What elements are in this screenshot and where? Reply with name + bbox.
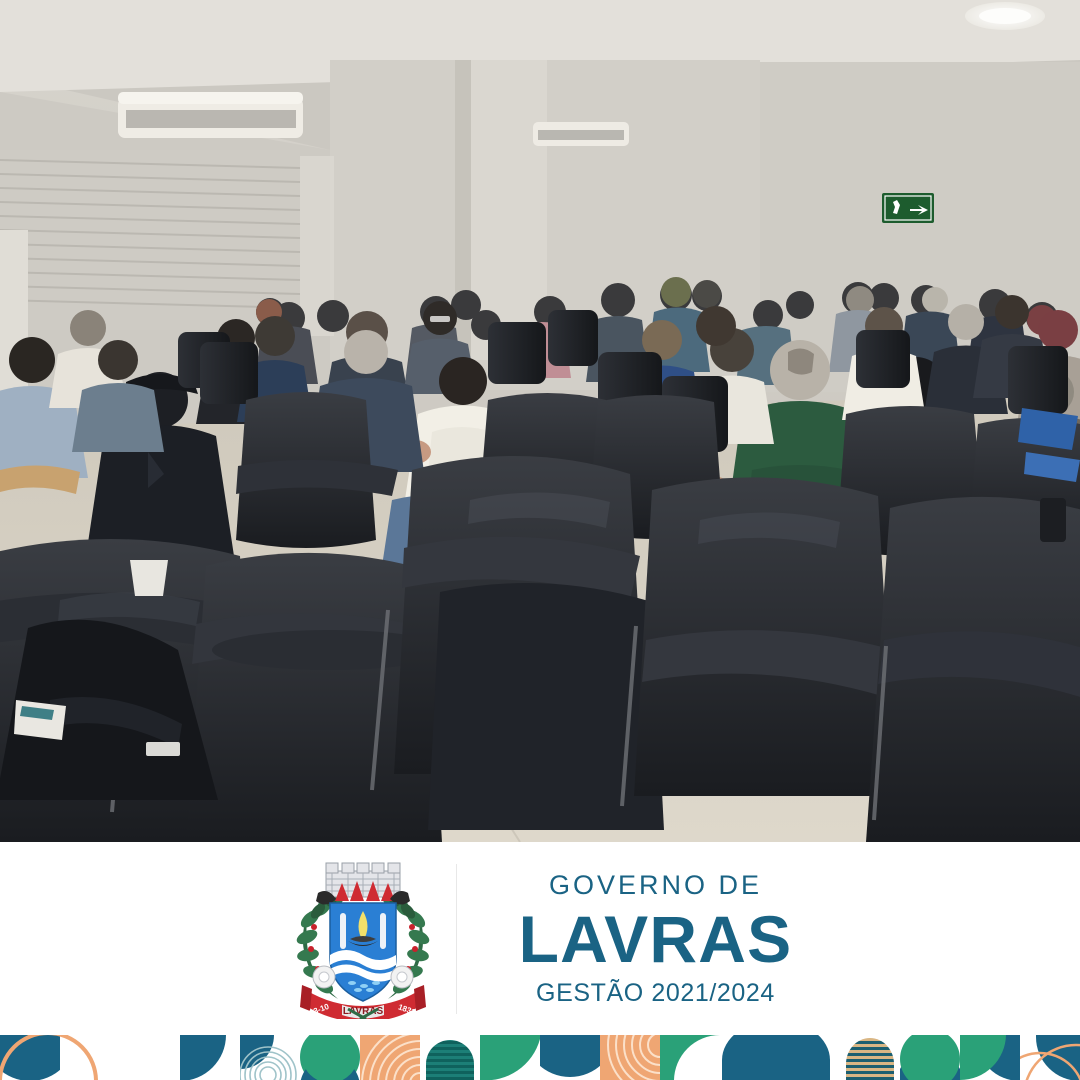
governo-label: GOVERNO DE (549, 872, 762, 899)
lavras-coat-of-arms-icon: LAVRAS 13-10 1831 (288, 859, 438, 1019)
brand-divider (456, 864, 457, 1014)
brand-band: LAVRAS 13-10 1831 GOVERNO DE LAVRAS GEST… (0, 842, 1080, 1035)
air-conditioner-left (118, 92, 303, 138)
lavras-wordmark: LAVRAS (519, 906, 793, 972)
social-post-card: LAVRAS 13-10 1831 GOVERNO DE LAVRAS GEST… (0, 0, 1080, 1080)
decorative-pattern-strip (0, 1035, 1080, 1080)
exit-sign (882, 193, 934, 223)
air-conditioner-right (533, 122, 629, 146)
crest-banner-text: LAVRAS (342, 1006, 383, 1017)
audience-photo (0, 0, 1080, 842)
brand-text-block: GOVERNO DE LAVRAS GESTÃO 2021/2024 (519, 872, 793, 1006)
gestao-label: GESTÃO 2021/2024 (536, 981, 775, 1006)
